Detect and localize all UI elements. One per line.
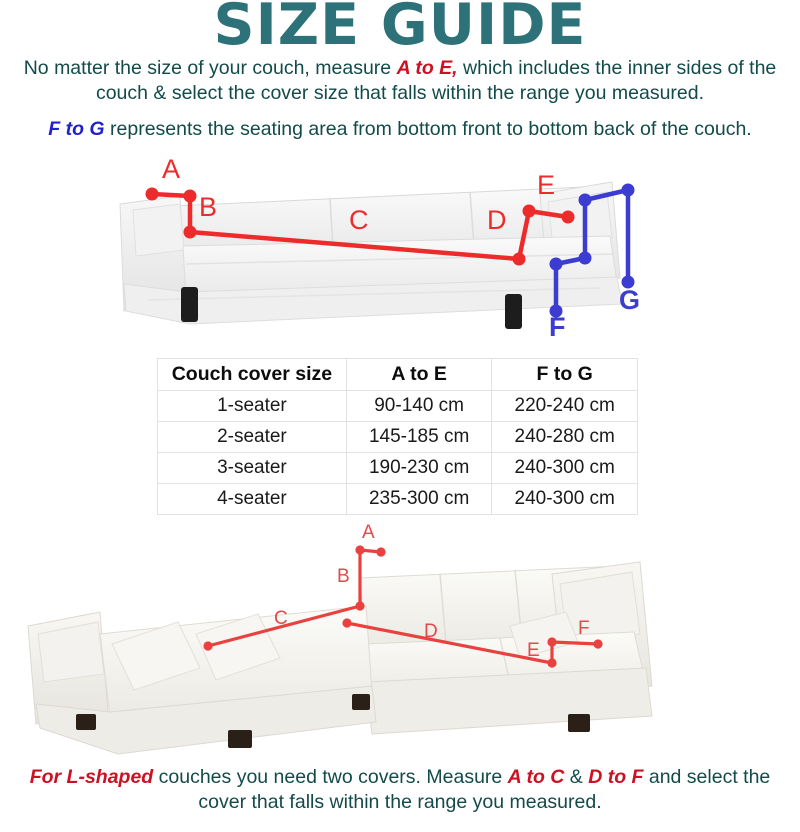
couch-leg-left [181,287,198,322]
footer-emphasis-a-to-c: A to C [508,766,565,788]
l-couch-illustration [28,562,652,754]
point-d-corner-dot [523,205,536,218]
column-header-a-to-e: A to E [346,359,492,391]
cell-a-to-e: 235-300 cm [346,484,492,515]
size-table: Couch cover size A to E F to G 1-seater … [157,358,638,515]
point-a-dot [376,547,385,556]
cell-size: 4-seater [158,484,347,515]
footer-emphasis-l-shaped: For L-shaped [30,766,154,788]
cell-f-to-g: 240-280 cm [492,422,638,453]
cell-f-to-g: 240-300 cm [492,453,638,484]
table-row: 1-seater 90-140 cm 220-240 cm [158,391,638,422]
label-b: B [337,566,350,587]
label-d: D [424,621,438,642]
footer-text-2: & [564,766,588,788]
label-c: C [349,205,369,235]
column-header-couch-cover-size: Couch cover size [158,359,347,391]
table-header-row: Couch cover size A to E F to G [158,359,638,391]
footer-note: For L-shaped couches you need two covers… [0,765,800,815]
point-a-dot [146,188,159,201]
label-c: C [274,608,288,629]
cell-f-to-g: 220-240 cm [492,391,638,422]
label-d: D [487,205,507,235]
point-b-dot [184,226,197,239]
point-f-dot [593,639,602,648]
l-couch-leg-2 [228,730,252,748]
intro-paragraph-1: No matter the size of your couch, measur… [0,56,800,106]
intro-emphasis-f-to-g: F to G [48,118,104,140]
label-f: F [549,312,566,342]
label-g: G [619,285,640,315]
table-row: 2-seater 145-185 cm 240-280 cm [158,422,638,453]
point-g-top-dot [622,184,635,197]
cell-size: 1-seater [158,391,347,422]
table-row: 4-seater 235-300 cm 240-300 cm [158,484,638,515]
footer-emphasis-d-to-f: D to F [588,766,643,788]
l-couch-leg-4 [568,714,590,732]
couch-illustration [120,182,622,329]
footer-text-1: couches you need two covers. Measure [153,766,507,788]
size-table-container: Couch cover size A to E F to G 1-seater … [157,358,638,515]
label-a: A [162,154,180,184]
point-c-dot [203,641,212,650]
cell-a-to-e: 90-140 cm [346,391,492,422]
point-e-dot [547,658,556,667]
l-shaped-couch-diagram: A B C D E F [0,516,800,766]
cell-a-to-e: 145-185 cm [346,422,492,453]
point-b-dot [355,601,364,610]
intro-paragraph-2: F to G represents the seating area from … [0,117,800,142]
point-a-corner-dot [355,545,364,554]
label-e: E [527,640,540,661]
cell-a-to-e: 190-230 cm [346,453,492,484]
point-b-corner-dot [184,190,197,203]
point-fg-upper-dot [579,194,592,207]
l-couch-leg-1 [76,714,96,730]
intro-emphasis-a-to-e: A to E, [397,57,458,79]
label-a: A [362,522,375,543]
cell-size: 2-seater [158,422,347,453]
table-row: 3-seater 190-230 cm 240-300 cm [158,453,638,484]
intro-text-1a: No matter the size of your couch, measur… [24,57,397,79]
couch-leg-right [505,294,522,329]
cell-size: 3-seater [158,453,347,484]
label-f: F [578,618,590,639]
cell-f-to-g: 240-300 cm [492,484,638,515]
point-d-dot [513,253,526,266]
page-title: SIZE GUIDE [0,0,800,54]
point-fg-mid-dot [579,252,592,265]
label-b: B [199,192,217,222]
l-couch-leg-3 [352,694,370,710]
label-e: E [537,170,555,200]
point-e-corner-dot [547,637,556,646]
intro-text-2b: represents the seating area from bottom … [105,118,752,140]
straight-couch-diagram: A B C D E F G [0,146,800,351]
point-f-corner-dot [550,258,563,271]
column-header-f-to-g: F to G [492,359,638,391]
point-e-dot [562,211,575,224]
point-d-dot [342,618,351,627]
